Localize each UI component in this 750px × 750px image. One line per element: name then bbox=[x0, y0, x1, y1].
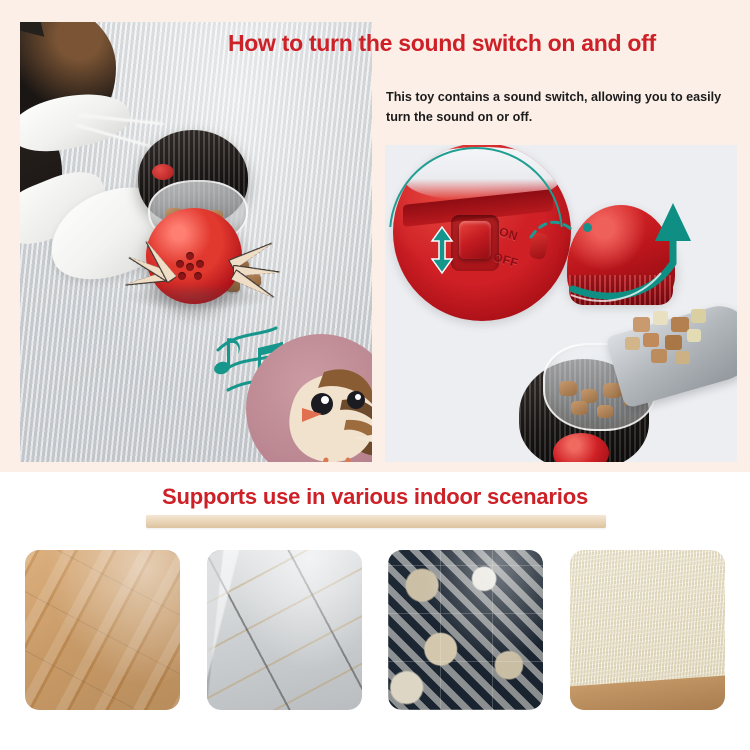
treat-piece bbox=[643, 333, 659, 347]
kibble bbox=[559, 381, 577, 396]
sparrow-illustration bbox=[272, 342, 372, 462]
treat-piece bbox=[691, 309, 706, 323]
toy-side-button bbox=[152, 164, 174, 180]
thumbnail-marble-tile[interactable] bbox=[207, 550, 362, 710]
thumbnail-wood-floor[interactable] bbox=[25, 550, 180, 710]
heading-decor-bar bbox=[146, 515, 606, 528]
kibble bbox=[597, 405, 613, 418]
bottom-section: Supports use in various indoor scenarios bbox=[0, 472, 750, 750]
treat-piece bbox=[687, 329, 701, 342]
thumbnail-shag-carpet[interactable] bbox=[570, 550, 725, 710]
kibble bbox=[571, 401, 588, 415]
treat-piece bbox=[625, 337, 640, 350]
dashed-connector-line bbox=[531, 222, 571, 237]
infographic-page: ON OFF bbox=[0, 0, 750, 750]
treat-piece bbox=[653, 311, 668, 325]
speaker-grille-icon bbox=[174, 252, 208, 282]
section-title: Supports use in various indoor scenarios bbox=[0, 484, 750, 510]
cap-lift-arrow-head bbox=[655, 203, 691, 241]
thumbnail-mosaic-tile[interactable] bbox=[388, 550, 543, 710]
right-diagram-panel: ON OFF bbox=[385, 145, 737, 462]
treat-piece bbox=[665, 335, 682, 350]
page-title: How to turn the sound switch on and off bbox=[228, 30, 738, 57]
treat-piece bbox=[633, 317, 650, 332]
cat-ear bbox=[20, 22, 54, 37]
scenario-thumbnail-row bbox=[25, 550, 725, 710]
left-photo-panel bbox=[20, 22, 372, 462]
treat-piece bbox=[675, 351, 690, 364]
page-subtitle: This toy contains a sound switch, allowi… bbox=[386, 88, 726, 127]
top-section: ON OFF bbox=[0, 0, 750, 472]
treat-piece bbox=[651, 349, 667, 363]
